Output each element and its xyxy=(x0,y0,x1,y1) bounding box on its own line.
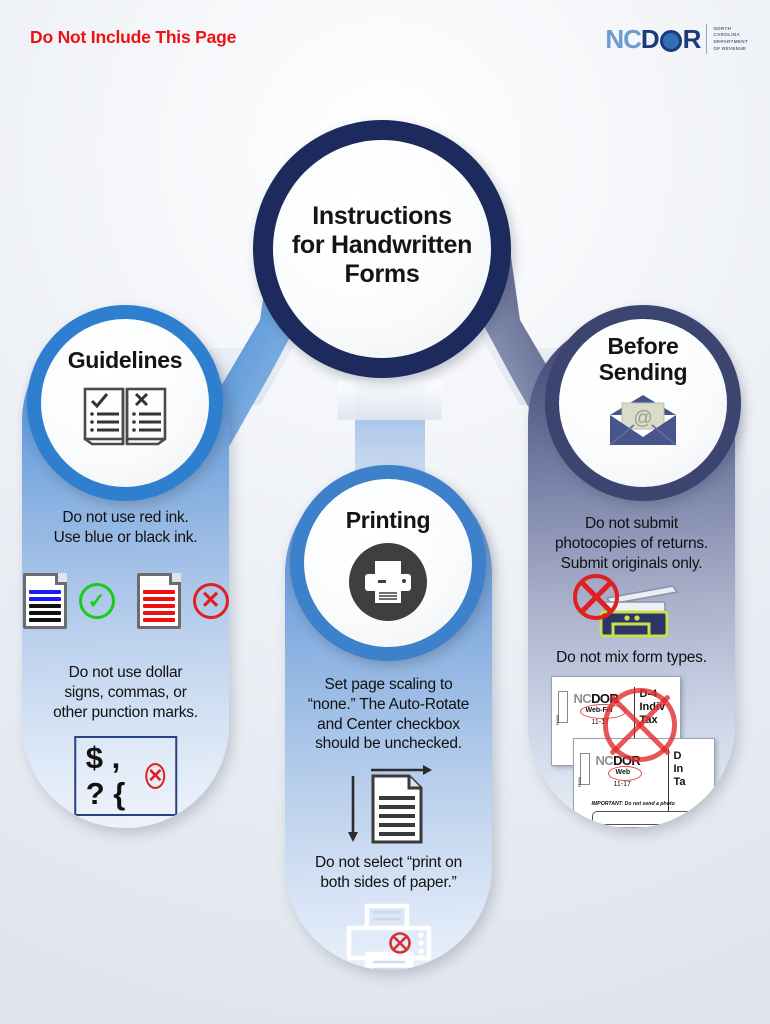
circle-guidelines[interactable]: Guidelines xyxy=(27,305,223,501)
circle-before-sending-inner: Before Sending @ xyxy=(559,319,727,487)
logo-sub-line3: DEPARTMENT xyxy=(713,39,748,46)
form-web-label-bottom: Web xyxy=(616,769,631,776)
center-circle[interactable]: Instructions for Handwritten Forms xyxy=(253,120,511,378)
form-version-bottom: 11-17 xyxy=(614,781,631,788)
ncdor-logo-wordmark: NCDR xyxy=(605,26,700,52)
red-x-badge: ✕ xyxy=(193,583,229,619)
guidelines-text-punct-line2: signs, commas, or xyxy=(22,683,229,703)
punctuation-symbols: $ , ? { xyxy=(86,740,139,812)
page-title-line2: for Handwritten xyxy=(292,231,472,260)
before-sending-text-line3: Submit originals only. xyxy=(528,554,735,574)
circle-printing[interactable]: Printing xyxy=(290,465,486,661)
before-sending-text-line1: Do not submit xyxy=(528,514,735,534)
guidelines-text-ink-line1: Do not use red ink. xyxy=(22,508,229,528)
guidelines-doc-icons: ✓ ✕ xyxy=(22,573,229,629)
logo-sub-line1: NORTH xyxy=(713,26,748,33)
ncdor-logo: NCDR NORTH CAROLINA DEPARTMENT OF REVENU… xyxy=(605,24,748,54)
circle-printing-inner: Printing xyxy=(304,479,472,647)
big-red-x-icon xyxy=(603,688,677,762)
do-not-include-warning: Do Not Include This Page xyxy=(30,27,236,48)
guidelines-text-ink: Do not use red ink. Use blue or black in… xyxy=(22,508,229,548)
printing-text-scaling-line4: should be unchecked. xyxy=(285,734,492,754)
printing-text-scaling: Set page scaling to “none.” The Auto-Rot… xyxy=(285,675,492,754)
circle-before-sending[interactable]: Before Sending @ xyxy=(545,305,741,501)
center-circle-inner: Instructions for Handwritten Forms xyxy=(273,140,491,358)
logo-r-text: R xyxy=(683,26,701,52)
page-title-line3: Forms xyxy=(292,260,472,289)
printing-text-duplex-line1: Do not select “print on xyxy=(285,853,492,873)
printing-text-duplex-line2: both sides of paper.” xyxy=(285,873,492,893)
printing-text-duplex: Do not select “print on both sides of pa… xyxy=(285,853,492,893)
document-blue-black-icon xyxy=(23,573,67,629)
green-check-badge: ✓ xyxy=(79,583,115,619)
envelope-at-icon: @ xyxy=(608,393,678,447)
printer-icon xyxy=(349,543,427,621)
page-title-line1: Instructions xyxy=(292,202,472,231)
circle-guidelines-inner: Guidelines xyxy=(41,319,209,487)
before-sending-text-line2: photocopies of returns. xyxy=(528,534,735,554)
page-flip-arrow-icon xyxy=(285,762,492,848)
before-sending-title-line2: Sending xyxy=(599,359,688,385)
red-x-overlay-icon xyxy=(573,574,619,620)
page-title: Instructions for Handwritten Forms xyxy=(292,202,472,289)
form-mockups: Here NCDOR Web-Fill 11-17 D-4 Indiv Tax xyxy=(551,676,713,826)
before-sending-title-line1: Before xyxy=(599,333,688,359)
logo-nc-text: NC xyxy=(605,26,641,52)
infographic-page: Do Not Include This Page NCDR NORTH CARO… xyxy=(0,0,770,1024)
copier-no-icon xyxy=(577,580,687,642)
guidelines-text-punct-line3: other punction marks. xyxy=(22,703,229,723)
logo-divider xyxy=(706,24,707,54)
before-sending-text-photocopies: Do not submit photocopies of returns. Su… xyxy=(528,514,735,573)
punct-red-x-badge: ✕ xyxy=(145,763,165,789)
logo-subtitle: NORTH CAROLINA DEPARTMENT OF REVENUE xyxy=(713,26,748,53)
logo-d-text: D xyxy=(641,26,659,52)
punctuation-example-box: $ , ? { ✕ xyxy=(74,736,178,816)
printing-text-scaling-line1: Set page scaling to xyxy=(285,675,492,695)
form-input-field xyxy=(592,811,710,825)
circle-o-icon xyxy=(660,30,682,52)
document-red-icon xyxy=(137,573,181,629)
open-book-checklist-icon xyxy=(82,381,168,447)
before-sending-title: Before Sending xyxy=(599,333,688,385)
before-sending-text-mix: Do not mix form types. xyxy=(528,648,735,668)
printing-text-scaling-line2: “none.” The Auto-Rotate xyxy=(285,695,492,715)
guidelines-title: Guidelines xyxy=(68,347,183,373)
svg-text:@: @ xyxy=(633,408,652,429)
guidelines-text-punct-line1: Do not use dollar xyxy=(22,663,229,683)
printing-text-scaling-line3: and Center checkbox xyxy=(285,715,492,735)
form-here-label-bottom: Here xyxy=(577,777,582,787)
form-here-label-top: Here xyxy=(555,715,560,725)
printer-no-duplex-icon xyxy=(285,900,492,970)
form-type-bottom: D In Ta xyxy=(674,750,686,789)
guidelines-text-ink-line2: Use blue or black ink. xyxy=(22,528,229,548)
logo-sub-line4: OF REVENUE xyxy=(713,46,748,53)
guidelines-text-punct: Do not use dollar signs, commas, or othe… xyxy=(22,663,229,722)
printing-title: Printing xyxy=(346,507,430,533)
logo-sub-line2: CAROLINA xyxy=(713,32,748,39)
form-important-note: IMPORTANT: Do not send a photo xyxy=(592,801,675,807)
